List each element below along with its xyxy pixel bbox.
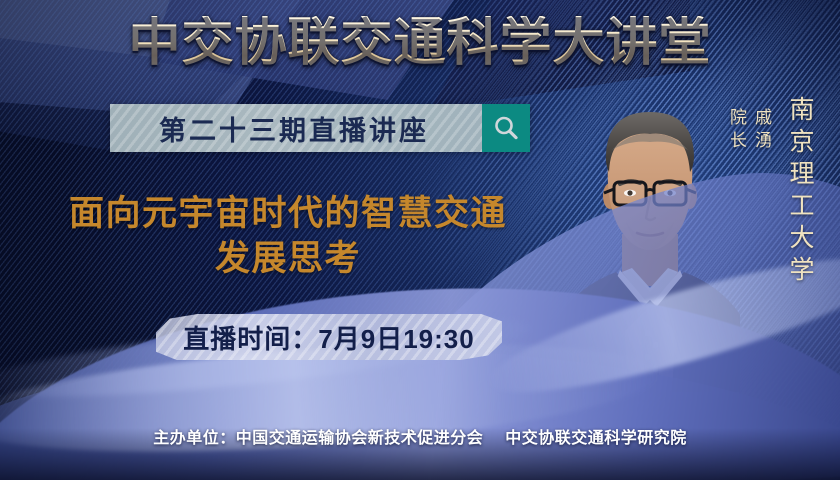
organizer-name-2: 中交协联交通科学研究院 bbox=[505, 430, 687, 447]
lecture-headline: 面向元宇宙时代的智慧交通 发展思考 bbox=[28, 192, 548, 282]
speaker-name: 戚湧 bbox=[752, 108, 771, 154]
headline-line-2: 发展思考 bbox=[28, 237, 548, 282]
broadcast-time-badge: 直播时间：7月9日19:30 bbox=[156, 314, 502, 360]
search-icon-box[interactable] bbox=[482, 104, 530, 152]
organizer-prefix: 主办单位： bbox=[153, 430, 236, 447]
search-icon bbox=[491, 113, 521, 143]
organizer-name-1: 中国交通运输协会新技术促进分会 bbox=[236, 430, 484, 447]
page-title: 中交协联交通科学大讲堂 bbox=[0, 16, 840, 71]
episode-banner: 第二十三期直播讲座 bbox=[110, 104, 530, 152]
speaker-organization: 南京理工大学 bbox=[782, 96, 818, 288]
live-lecture-poster: 中交协联交通科学大讲堂 第二十三期直播讲座 面向元宇宙时代的智慧交通 发展思考 … bbox=[0, 0, 840, 480]
broadcast-time-text: 直播时间：7月9日19:30 bbox=[183, 319, 474, 356]
speaker-portrait bbox=[560, 92, 740, 392]
episode-label: 第二十三期直播讲座 bbox=[110, 104, 482, 152]
speaker-name-title: 戚湧 院长 bbox=[724, 108, 774, 154]
organizer-line: 主办单位：中国交通运输协会新技术促进分会中交协联交通科学研究院 bbox=[0, 424, 840, 448]
headline-line-1: 面向元宇宙时代的智慧交通 bbox=[28, 192, 548, 237]
speaker-title: 院长 bbox=[727, 108, 746, 154]
